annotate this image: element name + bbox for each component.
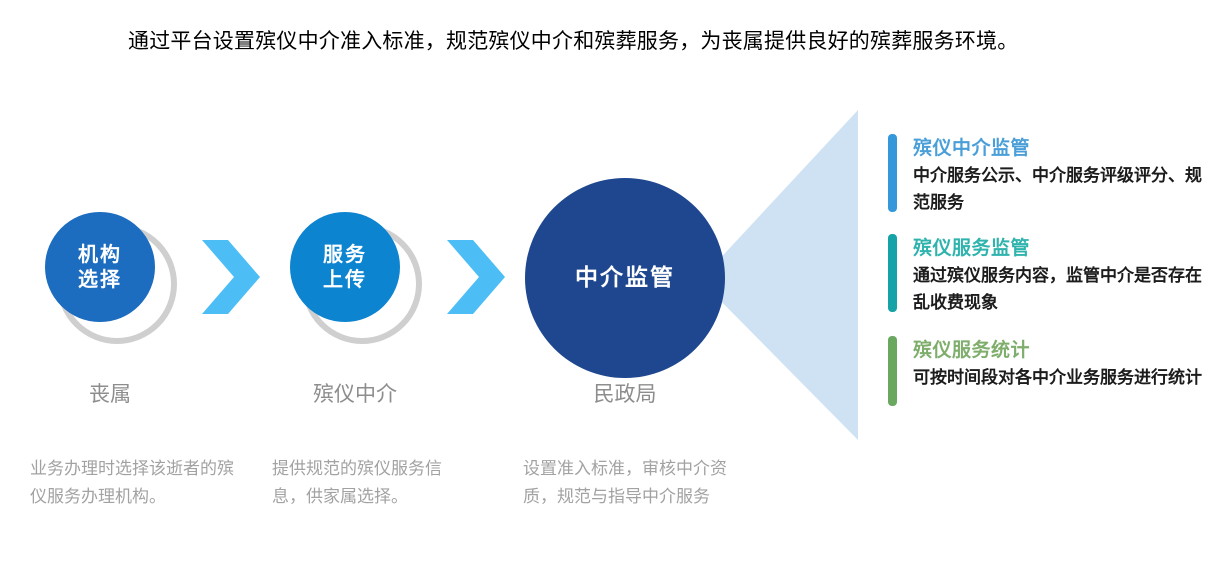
feature-accent-bar-2 bbox=[888, 234, 897, 312]
node-description-3: 设置准入标准，审核中介资质，规范与指导中介服务 bbox=[523, 455, 733, 511]
feature-accent-bar-3 bbox=[888, 336, 897, 406]
feature-item-1[interactable]: 殡仪中介监管 中介服务公示、中介服务评级评分、规范服务 bbox=[888, 134, 1218, 217]
node-circle-1-line1: 机构 bbox=[78, 242, 122, 267]
flow-node-2[interactable]: 服务 上传 bbox=[290, 212, 435, 357]
feature-text-2: 通过殡仪服务内容，监管中介是否存在乱收费现象 bbox=[913, 263, 1218, 317]
flow-node-1[interactable]: 机构 选择 bbox=[45, 212, 190, 357]
feature-title-3: 殡仪服务统计 bbox=[913, 337, 1218, 363]
intro-paragraph: 通过平台设置殡仪中介准入标准，规范殡仪中介和殡葬服务，为丧属提供良好的殡葬服务环… bbox=[62, 24, 1192, 58]
feature-text-1: 中介服务公示、中介服务评级评分、规范服务 bbox=[913, 163, 1218, 217]
feature-item-2[interactable]: 殡仪服务监管 通过殡仪服务内容，监管中介是否存在乱收费现象 bbox=[888, 234, 1218, 317]
feature-item-3[interactable]: 殡仪服务统计 可按时间段对各中介业务服务进行统计 bbox=[888, 336, 1218, 406]
node-circle-1-line2: 选择 bbox=[78, 267, 122, 292]
feature-body-3: 殡仪服务统计 可按时间段对各中介业务服务进行统计 bbox=[913, 336, 1218, 406]
node-circle-2-line2: 上传 bbox=[323, 267, 367, 292]
flow-node-3[interactable]: 中介监管 bbox=[525, 178, 725, 378]
chevron-arrow-1-icon bbox=[200, 238, 262, 316]
feature-title-2: 殡仪服务监管 bbox=[913, 235, 1218, 261]
role-label-3: 民政局 bbox=[555, 378, 695, 408]
diagram-canvas: 通过平台设置殡仪中介准入标准，规范殡仪中介和殡葬服务，为丧属提供良好的殡葬服务环… bbox=[0, 0, 1228, 575]
node-description-2: 提供规范的殡仪服务信息，供家属选择。 bbox=[272, 455, 472, 511]
node-circle-3[interactable]: 中介监管 bbox=[525, 178, 725, 378]
role-label-1: 丧属 bbox=[40, 378, 180, 408]
node-description-1: 业务办理时选择该逝者的殡仪服务办理机构。 bbox=[30, 455, 238, 511]
feature-text-3: 可按时间段对各中介业务服务进行统计 bbox=[913, 365, 1218, 392]
feature-body-1: 殡仪中介监管 中介服务公示、中介服务评级评分、规范服务 bbox=[913, 134, 1218, 217]
chevron-arrow-2-icon bbox=[445, 238, 507, 316]
node-circle-1[interactable]: 机构 选择 bbox=[45, 212, 155, 322]
feature-title-1: 殡仪中介监管 bbox=[913, 135, 1218, 161]
node-circle-2[interactable]: 服务 上传 bbox=[290, 212, 400, 322]
node-circle-2-line1: 服务 bbox=[323, 242, 367, 267]
node-circle-3-line1: 中介监管 bbox=[575, 263, 675, 293]
role-label-2: 殡仪中介 bbox=[285, 378, 425, 408]
feature-body-2: 殡仪服务监管 通过殡仪服务内容，监管中介是否存在乱收费现象 bbox=[913, 234, 1218, 317]
feature-accent-bar-1 bbox=[888, 134, 897, 212]
